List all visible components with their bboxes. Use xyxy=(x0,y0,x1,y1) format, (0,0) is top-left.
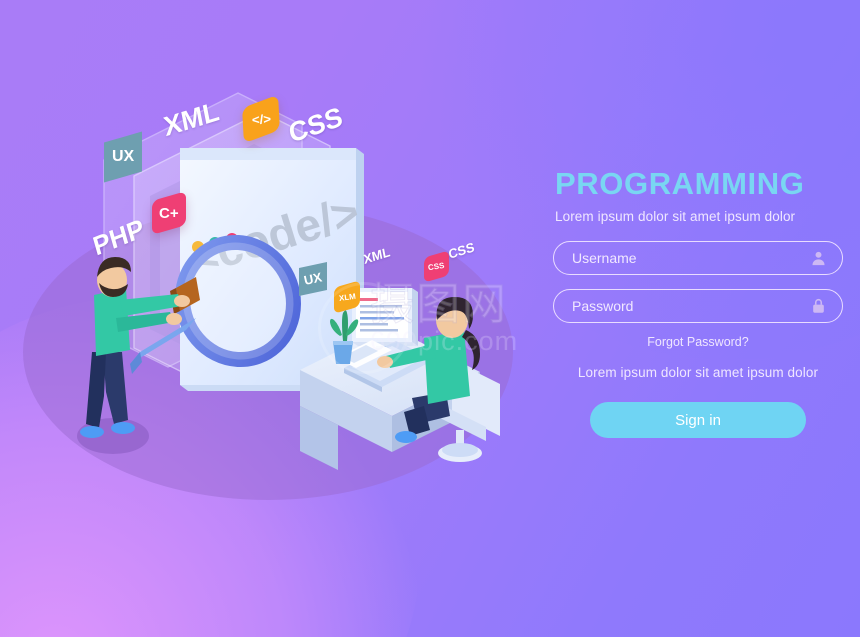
password-input[interactable] xyxy=(554,290,842,322)
badge-css-small-label: CSS xyxy=(428,261,446,272)
isometric-illustration: <code/> xyxy=(0,0,560,637)
badge-code-tag-label: </> xyxy=(251,111,271,127)
login-panel: PROGRAMMING Lorem ipsum dolor sit amet i… xyxy=(553,168,843,438)
user-icon xyxy=(810,250,827,267)
badge-xlm-label: XLM xyxy=(338,291,356,302)
legal-text: Lorem ipsum dolor sit amet ipsum dolor xyxy=(553,365,843,380)
page-title: PROGRAMMING xyxy=(555,168,843,199)
forgot-password-link[interactable]: Forgot Password? xyxy=(553,335,843,349)
shoe-right xyxy=(111,422,135,434)
woman-shoe xyxy=(395,431,417,443)
lock-icon xyxy=(810,298,827,315)
badge-cplus-label: C+ xyxy=(159,205,179,222)
page-subtitle: Lorem ipsum dolor sit amet ipsum dolor xyxy=(555,209,843,224)
programming-login-banner: <code/> xyxy=(0,0,860,637)
badge-ux-desk: UX xyxy=(299,262,327,296)
password-field[interactable] xyxy=(553,289,843,323)
username-field[interactable] xyxy=(553,241,843,275)
badge-ux-top-label: UX xyxy=(112,148,134,166)
shoe-left xyxy=(80,426,104,438)
username-input[interactable] xyxy=(554,242,842,274)
sign-in-button[interactable]: Sign in xyxy=(590,402,806,438)
